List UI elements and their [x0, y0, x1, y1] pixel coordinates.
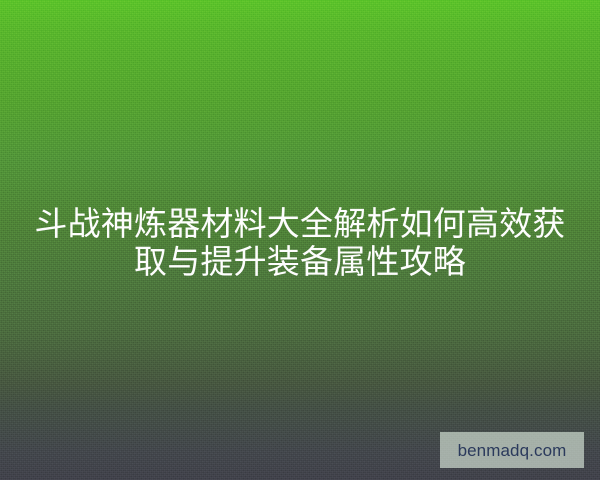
watermark-label: benmadq.com	[458, 442, 567, 459]
cover-image-canvas: 斗战神炼器材料大全解析如何高效获取与提升装备属性攻略 benmadq.com	[0, 0, 600, 480]
page-title: 斗战神炼器材料大全解析如何高效获取与提升装备属性攻略	[0, 205, 600, 281]
watermark-badge: benmadq.com	[440, 432, 584, 468]
